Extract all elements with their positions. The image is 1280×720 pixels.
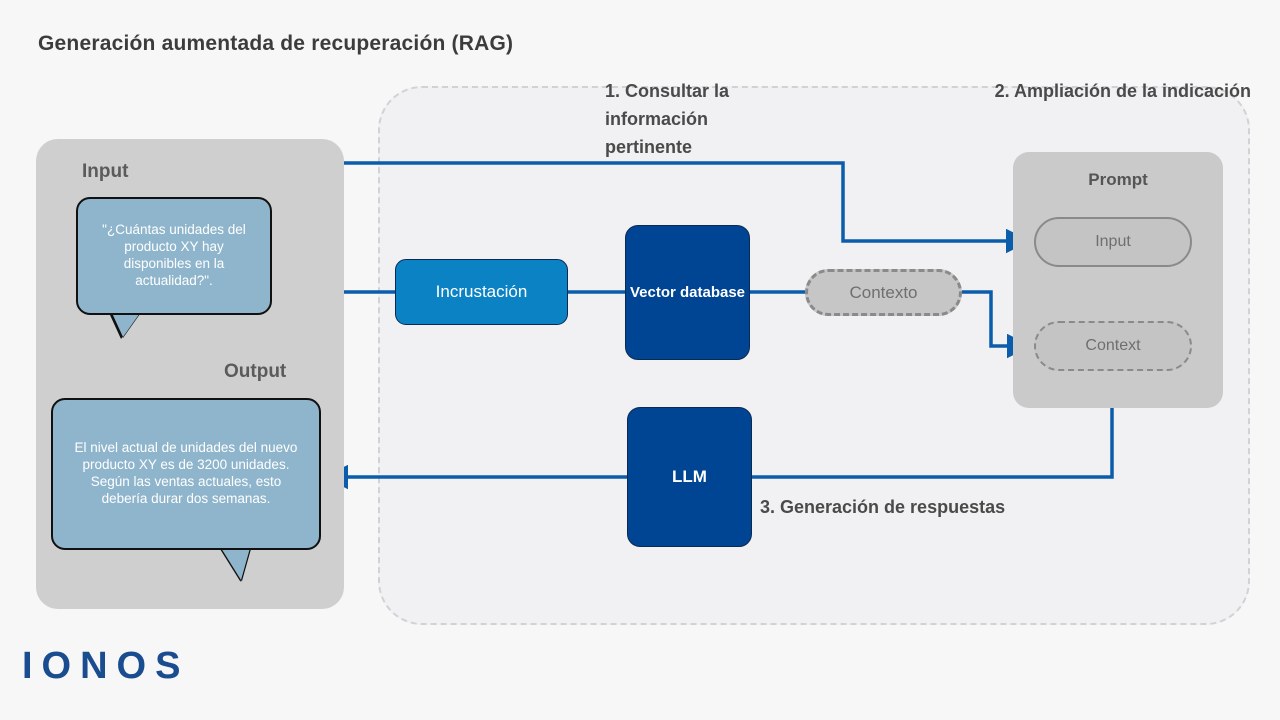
step-1-label: 1. Consultar la información pertinente: [605, 78, 790, 162]
input-question-bubble: "¿Cuántas unidades del producto XY hay d…: [76, 197, 272, 315]
step-2-label: 2. Ampliación de la indicación: [965, 78, 1251, 106]
ionos-logo: IONOS: [22, 645, 189, 688]
prompt-heading: Prompt: [1013, 170, 1223, 190]
contexto-pill: Contexto: [805, 269, 962, 316]
output-answer-bubble: El nivel actual de unidades del nuevo pr…: [51, 398, 321, 550]
output-heading: Output: [224, 361, 286, 383]
embedding-node[interactable]: Incrustación: [395, 259, 568, 325]
prompt-context-slot: Context: [1034, 321, 1192, 371]
output-bubble-tail: [221, 548, 250, 580]
step-3-label: 3. Generación de respuestas: [760, 494, 1005, 522]
llm-node[interactable]: LLM: [627, 407, 752, 547]
diagram-canvas: Generación aumentada de recuperación (RA…: [0, 0, 1280, 720]
input-bubble-tail: [112, 313, 140, 337]
input-heading: Input: [82, 161, 128, 183]
prompt-input-slot: Input: [1034, 217, 1192, 267]
vector-database-node[interactable]: Vector database: [625, 225, 750, 360]
